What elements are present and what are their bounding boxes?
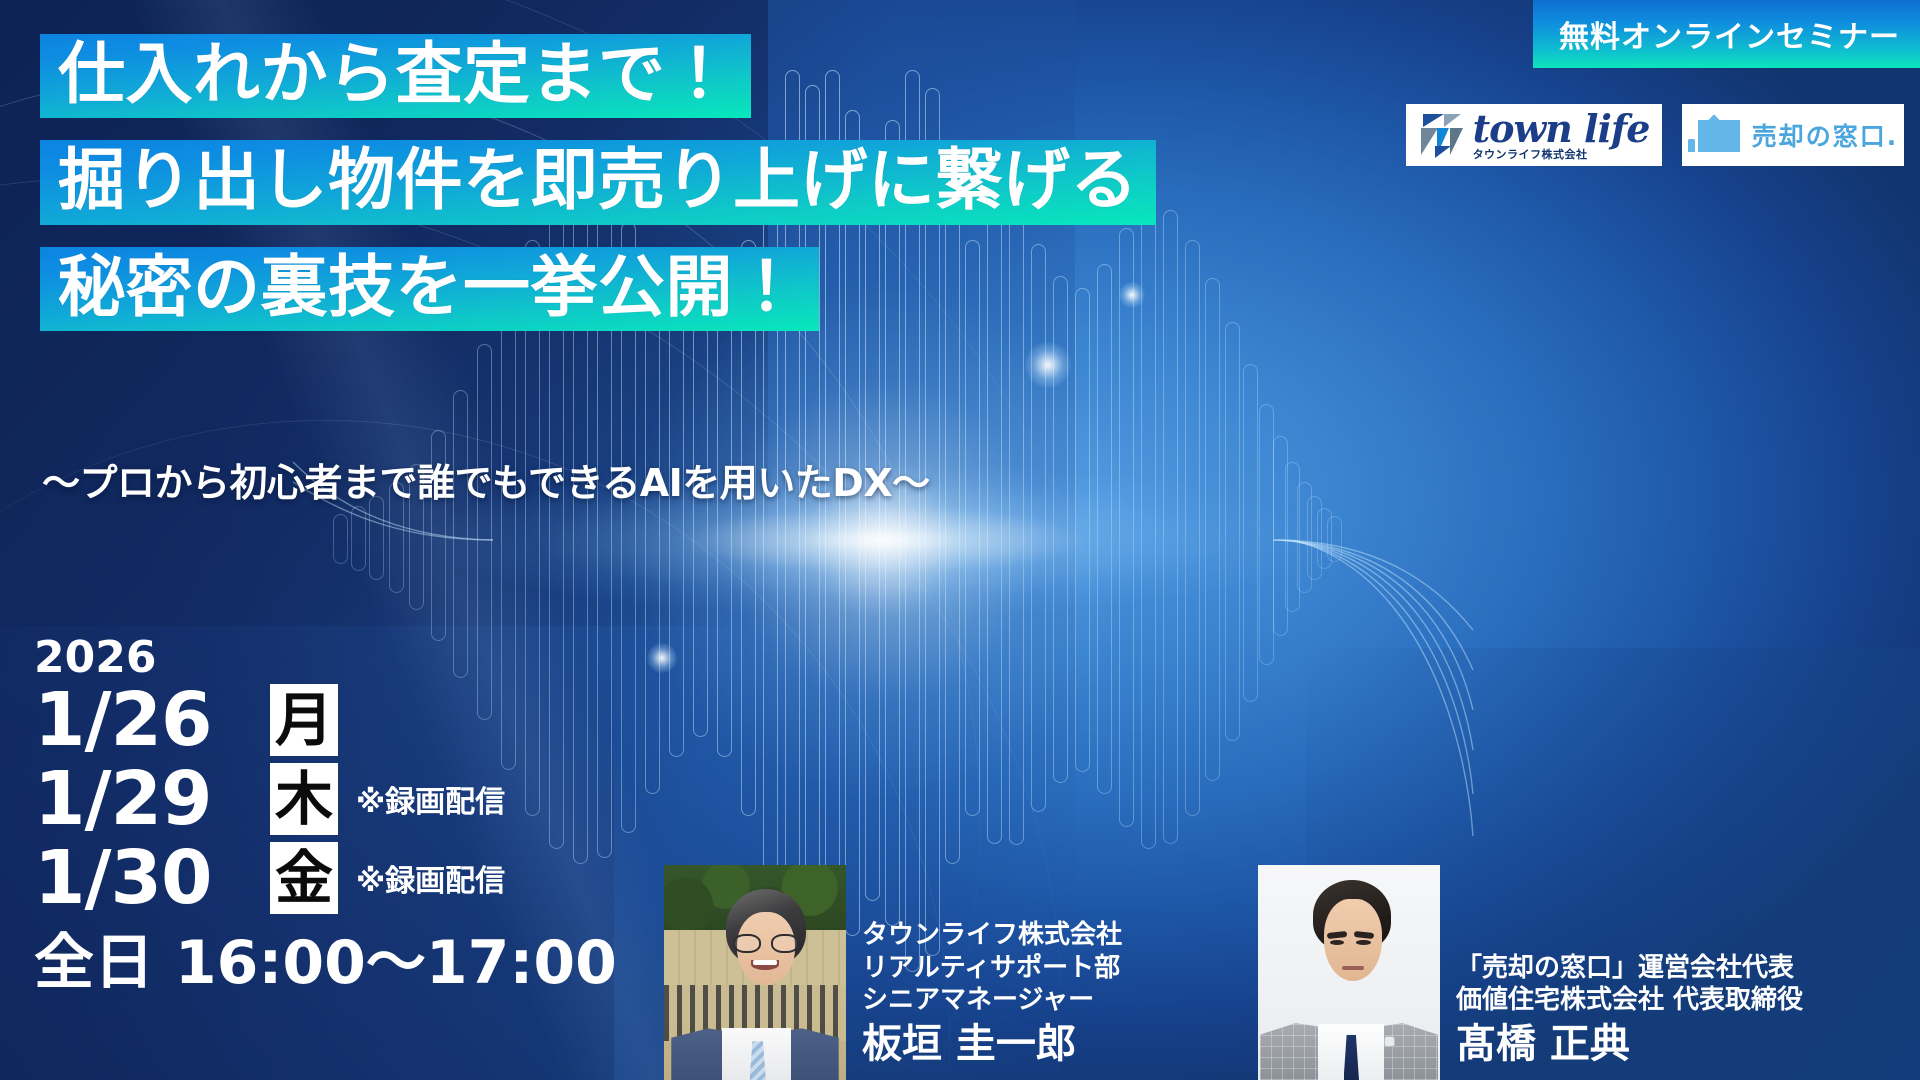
schedule-block: 2026 1/26 月 1/29 木 ※録画配信 1/30 金 ※録画配信 全日… — [34, 636, 617, 993]
free-seminar-badge: 無料オンラインセミナー — [1533, 0, 1920, 68]
schedule-note: ※録画配信 — [356, 856, 505, 900]
town-life-wordmark: town life タウンライフ株式会社 — [1473, 110, 1650, 160]
town-life-logo-word: town life — [1473, 110, 1650, 148]
headline-band-3: 秘密の裏技を一挙公開！ — [40, 247, 819, 331]
schedule-date: 1/26 — [34, 682, 256, 759]
house-outline-icon — [1688, 118, 1742, 152]
subtitle-text: ～プロから初心者まで誰でもできるAIを用いたDX～ — [42, 452, 930, 507]
speaker-2-role-line-2: 価値住宅株式会社 代表取締役 — [1456, 984, 1803, 1017]
speaker-1-info: タウンライフ株式会社 リアルティサポート部 シニアマネージャー 板垣 圭一郎 — [862, 919, 1122, 1080]
schedule-date: 1/30 — [34, 840, 256, 917]
baikyaku-logo-word: 売却の窓口. — [1752, 117, 1899, 153]
schedule-time: 全日 16:00～17:00 — [34, 933, 617, 993]
logo-row: town life タウンライフ株式会社 売却の窓口. — [1406, 104, 1904, 166]
schedule-note: ※録画配信 — [356, 777, 505, 821]
town-life-logo-subtext: タウンライフ株式会社 — [1473, 149, 1588, 160]
town-life-logo: town life タウンライフ株式会社 — [1406, 104, 1662, 166]
schedule-date: 1/29 — [34, 761, 256, 838]
headline-line-2: 掘り出し物件を即売り上げに繋げる — [58, 146, 1138, 214]
schedule-year: 2026 — [34, 636, 617, 680]
speaker-1-photo — [664, 865, 846, 1080]
schedule-row: 1/29 木 ※録画配信 — [34, 761, 617, 838]
headline-block: 仕入れから査定まで！ 掘り出し物件を即売り上げに繋げる 秘密の裏技を一挙公開！ — [40, 34, 1156, 331]
speaker-2-info: 「売却の窓口」運営会社代表 価値住宅株式会社 代表取締役 髙橋 正典 — [1456, 952, 1803, 1080]
free-seminar-badge-label: 無料オンラインセミナー — [1559, 12, 1900, 56]
schedule-row: 1/30 金 ※録画配信 — [34, 840, 617, 917]
speaker-2-role-line-1: 「売却の窓口」運営会社代表 — [1456, 952, 1803, 985]
speaker-1-role-line-3: シニアマネージャー — [862, 984, 1122, 1017]
seminar-banner: 無料オンラインセミナー town life タウンライフ株式会社 売却の窓口. … — [0, 0, 1920, 1080]
headline-line-1: 仕入れから査定まで！ — [58, 40, 733, 108]
speaker-1-name: 板垣 圭一郎 — [862, 1020, 1122, 1068]
headline-band-1: 仕入れから査定まで！ — [40, 34, 751, 118]
speaker-1: タウンライフ株式会社 リアルティサポート部 シニアマネージャー 板垣 圭一郎 — [664, 865, 1122, 1080]
headline-band-2: 掘り出し物件を即売り上げに繋げる — [40, 140, 1156, 224]
speaker-2-name: 髙橋 正典 — [1456, 1020, 1803, 1068]
speaker-2: 「売却の窓口」運営会社代表 価値住宅株式会社 代表取締役 髙橋 正典 — [1258, 865, 1803, 1080]
speaker-1-role-line-2: リアルティサポート部 — [862, 952, 1122, 985]
schedule-day-chip: 月 — [270, 684, 338, 756]
speaker-1-role-line-1: タウンライフ株式会社 — [862, 919, 1122, 952]
baikyaku-no-madoguchi-logo: 売却の窓口. — [1682, 104, 1904, 166]
schedule-day-chip: 金 — [270, 842, 338, 914]
town-life-mark-icon — [1419, 112, 1465, 158]
schedule-day-chip: 木 — [270, 763, 338, 835]
speaker-2-photo — [1258, 865, 1440, 1080]
schedule-row: 1/26 月 — [34, 682, 617, 759]
headline-line-3: 秘密の裏技を一挙公開！ — [58, 253, 801, 321]
